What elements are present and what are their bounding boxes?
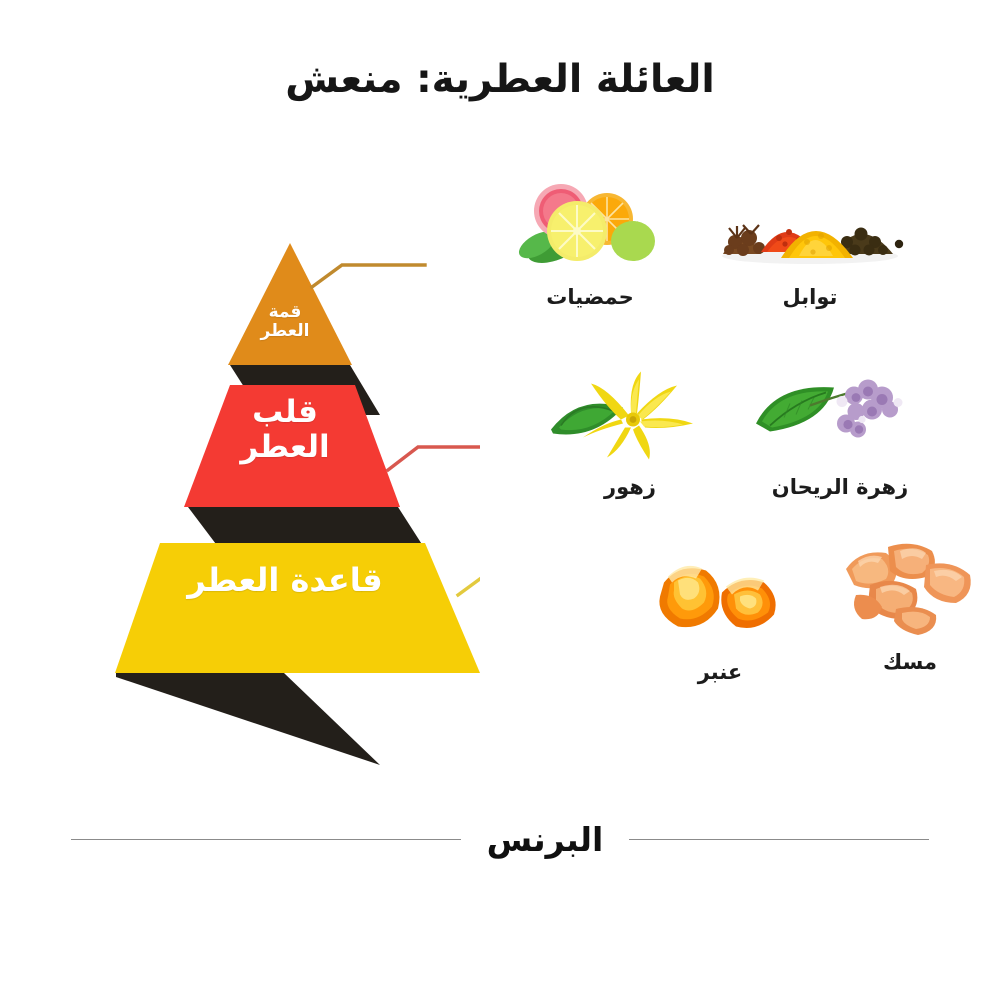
footer-rule-right: [629, 839, 929, 840]
ingredient-musk: مسك: [810, 540, 1000, 674]
ingredient-spices-caption: توابل: [710, 285, 910, 309]
base-tier-shape: [115, 543, 480, 673]
citrus-slices-icon: [490, 175, 690, 275]
ingredient-amber-caption: عنبر: [620, 660, 820, 684]
top-tier-shape: [228, 243, 352, 365]
ingredient-citrus: حمضيات: [490, 175, 690, 309]
page-title: العائلة العطرية: منعش: [0, 56, 1000, 105]
brand-name: البرنس: [487, 820, 604, 859]
ingredient-musk-caption: مسك: [810, 650, 1000, 674]
amber-stones-icon: [620, 550, 820, 650]
spice-piles-icon: [710, 175, 910, 275]
ingredient-amber: عنبر: [620, 550, 820, 684]
heart-tier-connector: [388, 447, 480, 470]
musk-chunks-icon: [810, 540, 1000, 640]
ingredient-citrus-caption: حمضيات: [490, 285, 690, 309]
ingredient-spices: توابل: [710, 175, 910, 309]
base-tier-shadow: [116, 673, 380, 765]
basil-flower-icon: [740, 365, 940, 465]
ingredient-flowers: زهور: [530, 365, 730, 499]
ingredient-grid: حمضيات: [470, 175, 990, 735]
fragrance-pyramid: قمة العطر قلب العطر قاعدة العطر: [80, 225, 480, 785]
ingredient-basil-caption: زهرة الريحان: [740, 475, 940, 499]
footer: البرنس: [0, 820, 1000, 859]
top-tier-connector: [312, 265, 425, 287]
footer-rule-left: [71, 839, 461, 840]
ingredient-flowers-caption: زهور: [530, 475, 730, 499]
ingredient-basil: زهرة الريحان: [740, 365, 940, 499]
yellow-flower-icon: [530, 365, 730, 465]
